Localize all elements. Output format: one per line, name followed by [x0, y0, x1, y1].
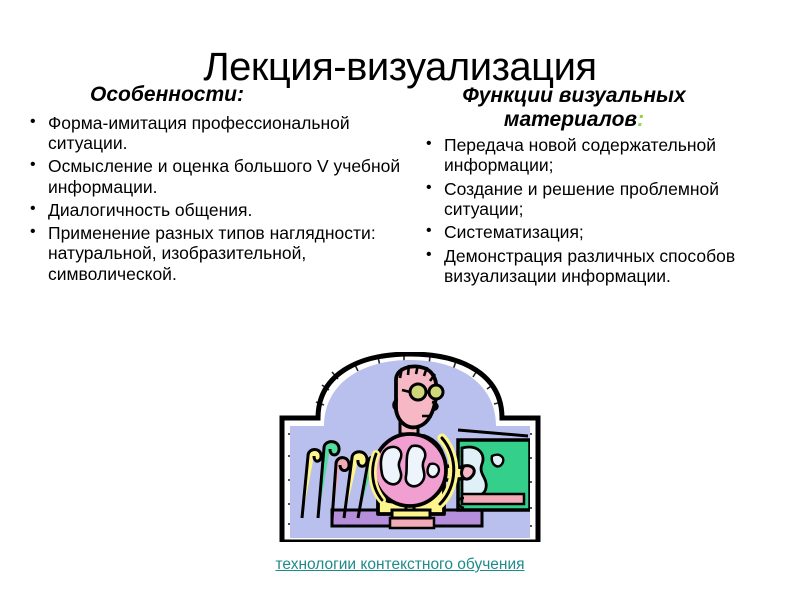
- list-item: Систематизация;: [424, 222, 784, 242]
- globe-continent-left: [381, 447, 401, 484]
- list-item: Диалогичность общения.: [28, 200, 416, 220]
- scene-interior: [286, 356, 534, 538]
- list-item: Создание и решение проблемной ситуации;: [424, 179, 784, 220]
- right-column-heading: Функции визуальных материалов:: [424, 84, 784, 131]
- right-hand: [462, 466, 475, 479]
- map-island: [492, 455, 504, 467]
- list-item: Передача новой содержательной информации…: [424, 135, 784, 176]
- left-content-column: Особенности: Форма-имитация профессионал…: [28, 84, 416, 287]
- right-bullet-list: Передача новой содержательной информации…: [424, 135, 784, 286]
- globe-continent-right: [406, 446, 425, 487]
- scholar-globe-illustration: [272, 352, 548, 542]
- list-item: Форма-имитация профессиональной ситуации…: [28, 113, 416, 154]
- presentation-slide: Лекция-визуализация Особенности: Форма-и…: [0, 0, 800, 600]
- list-item: Применение разных типов наглядности: нат…: [28, 223, 416, 284]
- map-bottom-bar: [462, 494, 524, 504]
- globe-continent-small: [428, 464, 439, 477]
- scholar-globe-icon: [272, 352, 548, 542]
- left-column-heading: Особенности:: [28, 84, 416, 107]
- right-column-heading-text: Функции визуальных материалов: [462, 84, 685, 131]
- right-content-column: Функции визуальных материалов: Передача …: [424, 84, 784, 289]
- list-item: Демонстрация различных способов визуализ…: [424, 246, 784, 287]
- footer-link[interactable]: технологии контекстного обучения: [0, 556, 800, 574]
- globe-base: [392, 510, 430, 518]
- left-bullet-list: Форма-имитация профессиональной ситуации…: [28, 113, 416, 284]
- list-item: Осмысление и оценка большого V учебной и…: [28, 156, 416, 197]
- right-column-heading-colon: :: [637, 108, 644, 131]
